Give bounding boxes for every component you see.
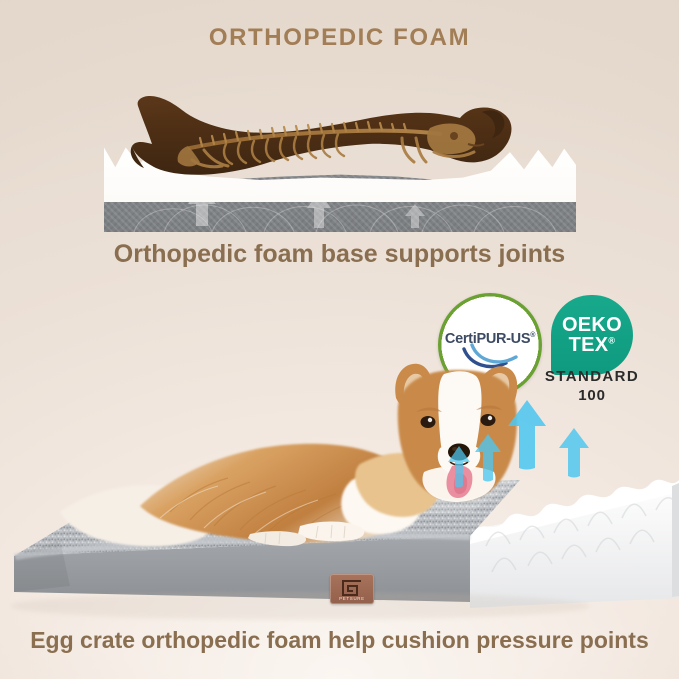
caption-egg-crate: Egg crate orthopedic foam help cushion p… <box>0 627 679 654</box>
infographic-page: ORTHOPEDIC FOAM <box>0 0 679 679</box>
brand-spiral-icon <box>340 579 364 597</box>
page-title: ORTHOPEDIC FOAM <box>0 24 679 52</box>
brand-logo-tag: PETSURE <box>330 574 374 604</box>
foam-cross-section-diagram <box>104 84 576 232</box>
dog-silhouette-with-skeleton <box>130 88 550 184</box>
caption-orthopedic-support: Orthopedic foam base supports joints <box>0 240 679 269</box>
oeko-line1: OEKO <box>562 315 622 335</box>
brand-tag-text: PETSURE <box>330 596 374 601</box>
